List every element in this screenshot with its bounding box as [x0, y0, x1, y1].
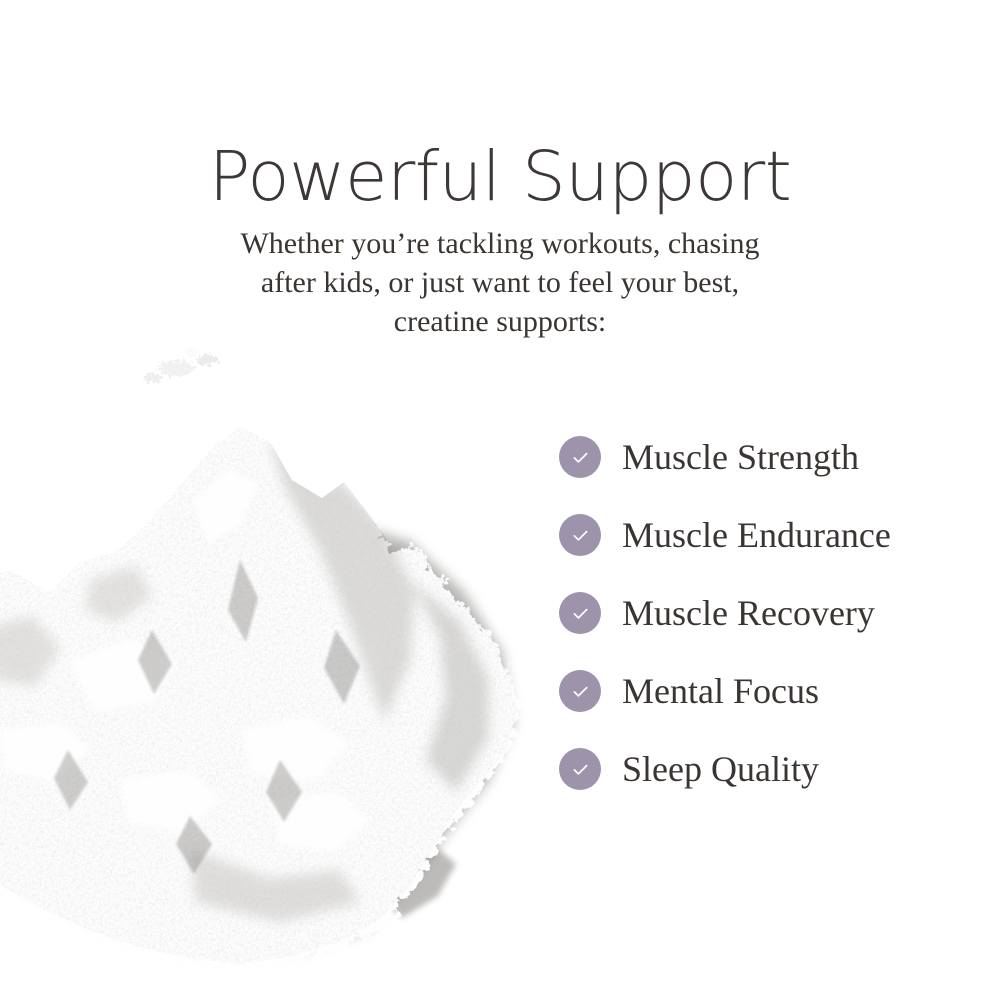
- benefit-label: Muscle Strength: [622, 436, 859, 478]
- subtitle-line-2: after kids, or just want to feel your be…: [150, 263, 850, 302]
- benefit-label: Sleep Quality: [622, 748, 819, 790]
- benefit-label: Muscle Recovery: [622, 592, 875, 634]
- check-circle-icon: [559, 670, 601, 712]
- subtitle-line-3: creatine supports:: [150, 302, 850, 341]
- benefit-label: Muscle Endurance: [622, 514, 891, 556]
- list-item: Mental Focus: [559, 670, 979, 712]
- list-item: Muscle Strength: [559, 436, 979, 478]
- check-circle-icon: [559, 436, 601, 478]
- check-circle-icon: [559, 748, 601, 790]
- page-title: Powerful Support: [0, 138, 1000, 216]
- check-circle-icon: [559, 514, 601, 556]
- benefits-list: Muscle Strength Muscle Endurance Muscle …: [559, 436, 979, 790]
- check-circle-icon: [559, 592, 601, 634]
- list-item: Sleep Quality: [559, 748, 979, 790]
- list-item: Muscle Recovery: [559, 592, 979, 634]
- product-benefits-graphic: Powerful Support Whether you’re tackling…: [0, 0, 1000, 1000]
- list-item: Muscle Endurance: [559, 514, 979, 556]
- page-subtitle: Whether you’re tackling workouts, chasin…: [150, 224, 850, 341]
- subtitle-line-1: Whether you’re tackling workouts, chasin…: [150, 224, 850, 263]
- creatine-powder-image: [0, 330, 560, 970]
- benefit-label: Mental Focus: [622, 670, 819, 712]
